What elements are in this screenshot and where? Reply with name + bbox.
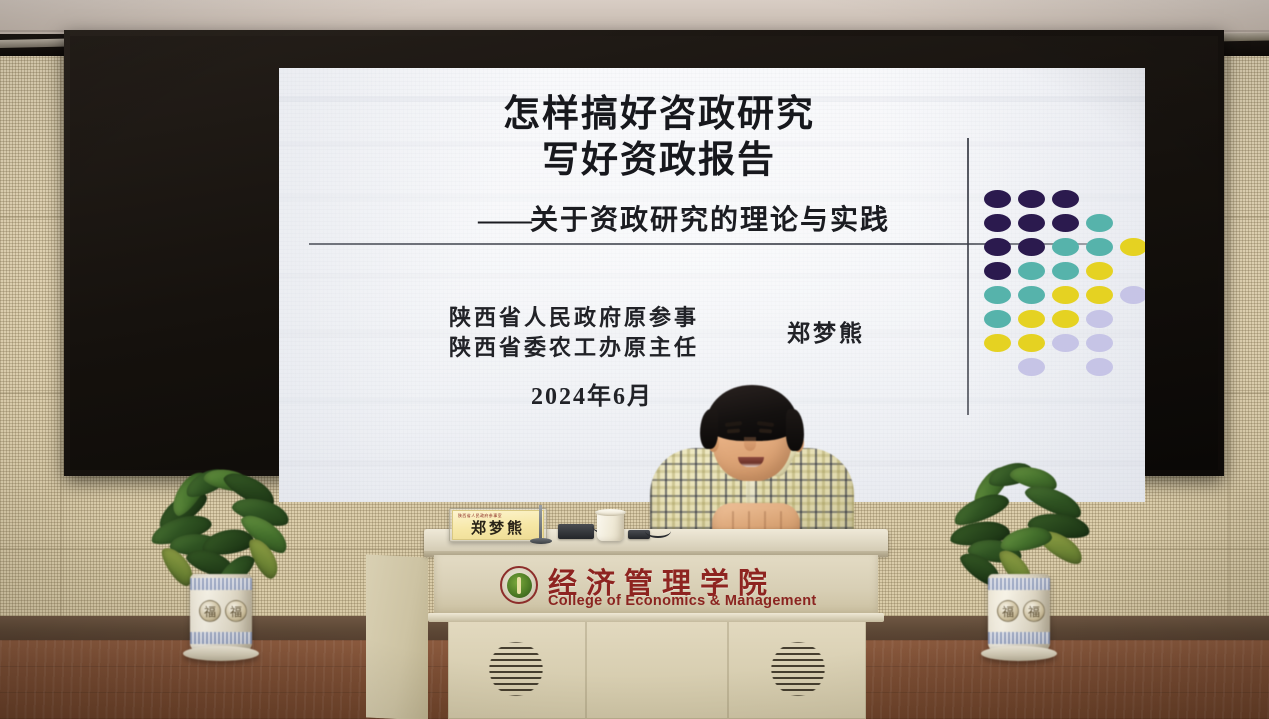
slide-subtitle-text: 关于资政研究的理论与实践 xyxy=(530,205,890,236)
device-cable-secondary xyxy=(645,524,671,538)
plant-pot-right: 福 福 xyxy=(988,574,1050,652)
decorative-dot-navy xyxy=(984,262,1011,280)
nameplate: 陕西省人民政府参事室 郑梦熊 xyxy=(452,510,544,540)
wall-seam-vertical-1 xyxy=(60,36,62,616)
decorative-dot-yellow xyxy=(1018,334,1045,352)
decorative-dot-navy xyxy=(984,214,1011,232)
author-role-line-2: 陕西省委农工办原主任 xyxy=(449,330,699,362)
decorative-dot-navy xyxy=(984,190,1011,208)
podium-base-cabinet xyxy=(448,621,866,719)
decorative-dot-navy xyxy=(1052,214,1079,232)
slide-title-line-2: 写好资政报告 xyxy=(279,136,1039,184)
decorative-dot-navy xyxy=(1018,214,1045,232)
decorative-dot-teal xyxy=(1018,286,1045,304)
pot-medallion: 福 xyxy=(997,600,1019,622)
pot-medallion: 福 xyxy=(1023,600,1045,622)
decorative-dot-yellow xyxy=(1018,310,1045,328)
decorative-dot-yellow xyxy=(1052,286,1079,304)
wall-seam-vertical-2 xyxy=(1228,36,1230,616)
slide-horizontal-rule xyxy=(309,243,1087,245)
paper-cup-rim xyxy=(595,509,626,516)
projection-screen-frame: 怎样搞好咨政研究 写好资政报告 ——关于资政研究的理论与实践 陕西省人民政府原参… xyxy=(64,30,1224,476)
slide-subtitle: ——关于资政研究的理论与实践 xyxy=(289,198,1079,238)
decorative-dot-yellow xyxy=(1052,310,1079,328)
author-name: 郑梦熊 xyxy=(787,314,865,348)
decorative-dot-teal xyxy=(1052,238,1079,256)
pot-medallion: 福 xyxy=(199,600,221,622)
plant-pot-left: 福 福 xyxy=(190,574,252,652)
projected-slide: 怎样搞好咨政研究 写好资政报告 ——关于资政研究的理论与实践 陕西省人民政府原参… xyxy=(279,68,1145,502)
slide-vertical-rule xyxy=(967,138,969,415)
decorative-dot-teal xyxy=(1052,262,1079,280)
decorative-dot-lavender xyxy=(1086,358,1113,376)
slide-author-block: 陕西省人民政府原参事 陕西省委农工办原主任 郑梦熊 2024年6月 xyxy=(449,300,919,362)
podium-base-panel-center xyxy=(586,621,728,719)
slide-subtitle-dash: —— xyxy=(478,205,530,236)
decorative-dot-teal xyxy=(984,286,1011,304)
decorative-dot-navy xyxy=(1018,238,1045,256)
decorative-dot-teal xyxy=(1086,214,1113,232)
decorative-dot-navy xyxy=(984,238,1011,256)
decorative-dot-navy xyxy=(1018,190,1045,208)
decorative-dot-teal xyxy=(1018,262,1045,280)
plant-saucer-left xyxy=(183,646,259,661)
decorative-dot-navy xyxy=(1052,190,1079,208)
author-role-line-1: 陕西省人民政府原参事 xyxy=(449,300,699,332)
control-device[interactable] xyxy=(558,524,594,539)
wheat-emblem-icon xyxy=(500,566,538,604)
decorative-dot-lavender xyxy=(1086,334,1113,352)
desk-microphone-stem[interactable] xyxy=(539,505,542,541)
speaker-grille-left xyxy=(488,641,544,697)
decorative-dot-yellow xyxy=(1086,262,1113,280)
podium-logo-english: College of Economics & Management xyxy=(548,593,817,609)
nameplate-name: 郑梦熊 xyxy=(471,522,525,537)
slide-title-line-1: 怎样搞好咨政研究 xyxy=(279,92,1039,136)
speaker-grille-right xyxy=(770,641,826,697)
podium-side-wing xyxy=(366,554,428,719)
plant-saucer-right xyxy=(981,646,1057,661)
decorative-dot-teal xyxy=(984,310,1011,328)
decorative-dot-yellow xyxy=(1086,286,1113,304)
decorative-dot-yellow xyxy=(984,334,1011,352)
paper-cup[interactable] xyxy=(597,511,624,541)
decorative-dot-yellow xyxy=(1120,238,1145,256)
decorative-dot-lavender xyxy=(1086,310,1113,328)
potted-plant-left: 福 福 xyxy=(150,470,290,690)
lecture-hall-scene: 怎样搞好咨政研究 写好资政报告 ——关于资政研究的理论与实践 陕西省人民政府原参… xyxy=(0,0,1269,719)
decorative-dot-teal xyxy=(1086,238,1113,256)
nameplate-header: 陕西省人民政府参事室 xyxy=(458,513,502,519)
slide-title: 怎样搞好咨政研究 写好资政报告 xyxy=(279,92,1039,184)
decorative-dot-lavender xyxy=(1018,358,1045,376)
decorative-dot-lavender xyxy=(1052,334,1079,352)
wheat-emblem-inner xyxy=(507,573,532,598)
pot-medallion: 福 xyxy=(225,600,247,622)
decorative-dot-lavender xyxy=(1120,286,1145,304)
slide-date: 2024年6月 xyxy=(531,376,653,411)
desk-microphone-base[interactable] xyxy=(530,538,552,544)
